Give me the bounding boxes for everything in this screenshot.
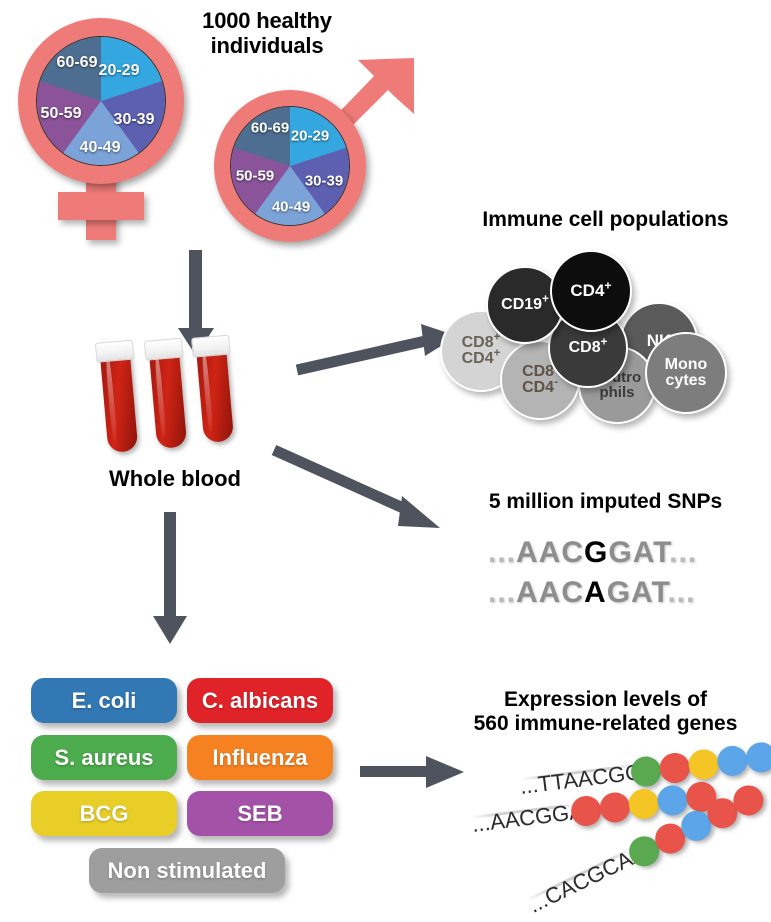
female-stem-cross: [58, 192, 144, 220]
stimulus-s-aureus[interactable]: S. aureus: [31, 735, 177, 780]
pie-label-40-49: 40-49: [80, 139, 121, 157]
cell-label: CD8+: [569, 340, 608, 356]
tube-blood-fill: [149, 347, 188, 449]
snp-variant-base: A: [584, 576, 607, 609]
blood-tubes-group: [100, 340, 260, 455]
tube-blood-fill: [100, 349, 139, 453]
arrow-blood-to-stimuli: [148, 512, 192, 647]
female-symbol: 20-29 30-39 40-49 50-59 60-69: [8, 10, 198, 240]
stimulus-label: E. coli: [72, 688, 137, 714]
immune-title: Immune cell populations: [440, 208, 771, 232]
genes-title: Expression levels of 560 immune-related …: [440, 688, 771, 736]
whole-blood-label: Whole blood: [60, 466, 290, 491]
pie-label-50-59: 50-59: [236, 168, 274, 185]
stimulus-seb[interactable]: SEB: [187, 791, 333, 836]
pie-label-40-49: 40-49: [272, 199, 310, 216]
pie-label-30-39: 30-39: [305, 173, 343, 190]
stimulus-label: Non stimulated: [108, 858, 267, 884]
tube-cap: [191, 335, 231, 358]
immune-cells-cluster: CD4+ CD19+ NK CD8+ CD8+CD4+ CD8-CD4- Neu…: [440, 240, 771, 420]
snp-left-bases: AAC: [516, 576, 584, 609]
snp-sequence-row: ...AACGGAT...: [488, 536, 697, 570]
tube-blood-fill: [196, 344, 234, 443]
cell-label: CD8+CD4+: [462, 335, 501, 368]
gene-bead: [716, 744, 749, 777]
stimulus-label: C. albicans: [202, 688, 318, 714]
pie-label-60-69: 60-69: [57, 54, 98, 72]
gene-bead: [658, 751, 691, 784]
cell-monocytes: Monocytes: [645, 332, 727, 414]
stimulus-label: SEB: [237, 801, 282, 827]
snp-suffix: ...: [669, 536, 697, 569]
cell-label: CD4+: [570, 282, 611, 299]
gene-bead: [627, 787, 660, 820]
snp-variant-base: G: [584, 536, 608, 569]
snp-prefix: ...: [488, 536, 516, 569]
tube-cap: [95, 339, 135, 363]
tube-cap: [144, 338, 184, 361]
stimulus-label: BCG: [80, 801, 129, 827]
pie-label-20-29: 20-29: [291, 128, 329, 145]
snp-right-bases: GAT: [607, 576, 668, 609]
gene-bead: [598, 791, 631, 824]
pie-label-30-39: 30-39: [114, 111, 155, 129]
stimulus-non-stimulated[interactable]: Non stimulated: [89, 848, 285, 893]
cell-label: CD19+: [501, 297, 549, 313]
cell-label: CD8-CD4-: [522, 364, 558, 397]
stimulus-bcg[interactable]: BCG: [31, 791, 177, 836]
cell-label: Monocytes: [665, 357, 708, 390]
snps-title: 5 million imputed SNPs: [440, 490, 771, 514]
gene-bead: [744, 741, 771, 774]
snp-left-bases: AAC: [516, 536, 584, 569]
snp-right-bases: GAT: [608, 536, 669, 569]
blood-tube: [100, 349, 139, 453]
blood-tube: [196, 344, 234, 443]
pie-label-50-59: 50-59: [41, 105, 82, 123]
stimulus-label: Influenza: [212, 745, 307, 771]
snp-sequence-row: ...AACAGAT...: [488, 576, 695, 610]
gene-strands-group: ...TTAACGG ...AACGGAT ...CACGCAA: [430, 740, 771, 922]
snp-suffix: ...: [667, 576, 695, 609]
snp-prefix: ...: [488, 576, 516, 609]
pie-label-60-69: 60-69: [251, 120, 289, 137]
stimulus-e-coli[interactable]: E. coli: [31, 678, 177, 723]
arrow-blood-to-snps: [272, 430, 462, 540]
male-symbol: 20-29 30-39 40-49 50-59 60-69: [208, 52, 423, 252]
stimulus-c-albicans[interactable]: C. albicans: [187, 678, 333, 723]
blood-tube: [149, 347, 188, 449]
pie-label-20-29: 20-29: [99, 62, 140, 80]
cell-cd4-positive: CD4+: [550, 250, 632, 332]
stimulus-influenza[interactable]: Influenza: [187, 735, 333, 780]
stimulus-label: S. aureus: [54, 745, 153, 771]
gene-bead: [687, 748, 720, 781]
